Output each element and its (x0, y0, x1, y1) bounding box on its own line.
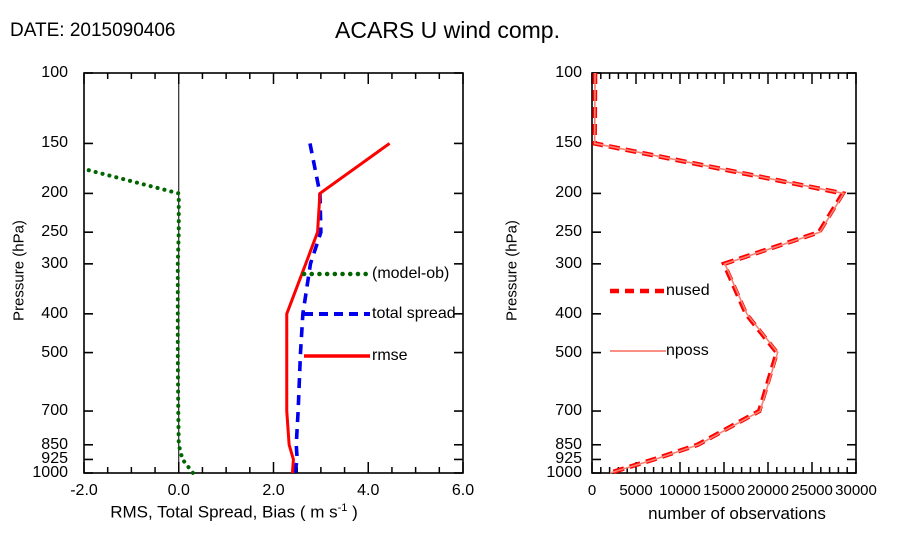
right-y-tick-label: 700 (520, 402, 582, 420)
right-x-tick-label: 15000 (703, 482, 745, 499)
right-x-tick-label: 30000 (835, 482, 877, 499)
right-y-tick-label: 300 (520, 255, 582, 273)
left-x-axis-title-sup: -1 (338, 502, 348, 514)
left-legend-label: rmse (372, 347, 408, 365)
right-y-tick-label: 150 (520, 134, 582, 152)
right-legend-label: nposs (666, 342, 709, 360)
right-y-tick-label: 400 (520, 305, 582, 323)
left-y-tick-label: 1000 (10, 464, 68, 482)
left-legend-label: total spread (372, 305, 456, 323)
right-x-tick-label: 25000 (791, 482, 833, 499)
left-x-tick-label: 4.0 (357, 482, 379, 500)
right-y-tick-label: 200 (520, 184, 582, 202)
left-legend-swatch-solid (302, 349, 372, 363)
left-legend-swatch-dashed (302, 307, 372, 321)
left-legend-label: (model-ob) (372, 265, 449, 283)
left-x-axis-title: RMS, Total Spread, Bias ( m s-1 ) (84, 502, 384, 523)
left-x-axis-title-post: ) (347, 503, 357, 522)
left-y-tick-label: 200 (10, 184, 68, 202)
right-x-tick-label: 20000 (747, 482, 789, 499)
right-y-axis-title: Pressure (hPa) (504, 211, 521, 331)
right-x-tick-label: 10000 (659, 482, 701, 499)
left-x-tick-label: 2.0 (262, 482, 284, 500)
right-y-tick-label: 250 (520, 223, 582, 241)
right-legend-label: nused (666, 282, 710, 300)
left-y-tick-label: 500 (10, 344, 68, 362)
right-legend-swatch-dashed (608, 284, 668, 298)
left-legend-swatch-dotted (302, 267, 372, 281)
left-x-tick-label: -2.0 (70, 482, 98, 500)
right-y-tick-label: 1000 (520, 464, 582, 482)
right-x-axis-title: number of observations (592, 504, 882, 524)
right-legend-swatch-solid (608, 344, 668, 358)
left-y-tick-label: 700 (10, 402, 68, 420)
right-y-tick-label: 100 (520, 64, 582, 82)
right-y-tick-label: 500 (520, 344, 582, 362)
left-y-axis-title: Pressure (hPa) (11, 211, 28, 331)
chart-page: DATE: 2015090406 ACARS U wind comp. 1001… (0, 0, 900, 560)
right-x-tick-label: 0 (588, 482, 596, 499)
left-y-tick-label: 150 (10, 134, 68, 152)
left-x-tick-label: 0.0 (168, 482, 190, 500)
right-x-tick-label: 5000 (619, 482, 652, 499)
left-x-axis-title-pre: RMS, Total Spread, Bias ( m s (110, 503, 337, 522)
left-y-tick-label: 100 (10, 64, 68, 82)
